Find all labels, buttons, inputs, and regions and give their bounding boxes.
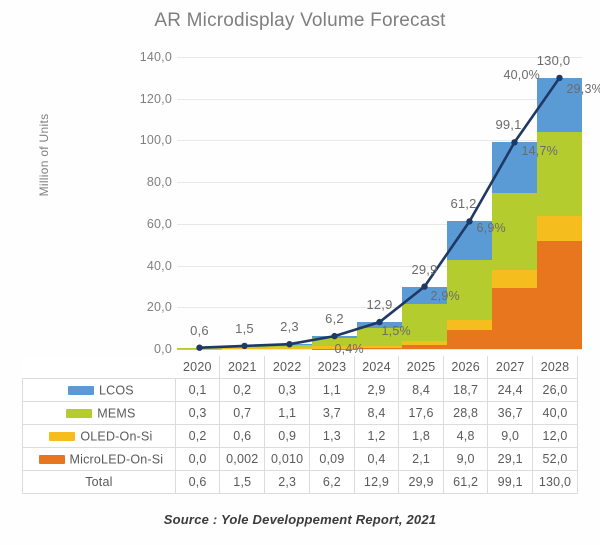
data-table: 202020212022202320242025202620272028 LCO… bbox=[22, 356, 578, 494]
y-axis-ticks: 140,0120,0100,080,060,040,020,00,0 bbox=[118, 0, 172, 360]
source-note: Source : Yole Developpement Report, 2021 bbox=[0, 512, 600, 527]
table-cell: 36,7 bbox=[488, 402, 533, 425]
table-total-label: Total bbox=[23, 471, 176, 494]
bar-stack bbox=[177, 348, 222, 349]
table-column-header: 2028 bbox=[533, 356, 578, 379]
table-cell: 0,0 bbox=[175, 448, 220, 471]
table-total-cell: 29,9 bbox=[399, 471, 444, 494]
table-cell: 0,1 bbox=[175, 379, 220, 402]
table-cell: 9,0 bbox=[488, 425, 533, 448]
table-cell: 0,2 bbox=[220, 379, 265, 402]
legend-label: LCOS bbox=[99, 383, 134, 397]
growth-percent-label: 6,9% bbox=[477, 221, 506, 235]
table-total-cell: 99,1 bbox=[488, 471, 533, 494]
table-cell: 1,2 bbox=[354, 425, 399, 448]
table-row: LCOS0,10,20,31,12,98,418,724,426,0 bbox=[23, 379, 578, 402]
total-value-label: 61,2 bbox=[450, 196, 476, 211]
legend-swatch-icon bbox=[66, 409, 92, 418]
total-value-label: 1,5 bbox=[235, 321, 254, 336]
bar-segment-oled-on-si[interactable] bbox=[222, 348, 267, 349]
legend-row-oled-on-si: OLED-On-Si bbox=[23, 425, 176, 448]
table-column-header: 2021 bbox=[220, 356, 265, 379]
legend-swatch-icon bbox=[49, 432, 75, 441]
total-value-label: 2,3 bbox=[280, 319, 299, 334]
legend-label: OLED-On-Si bbox=[80, 429, 152, 443]
table-cell: 3,7 bbox=[310, 402, 355, 425]
table-cell: 28,8 bbox=[443, 402, 488, 425]
table-column-header: 2023 bbox=[310, 356, 355, 379]
table-total-cell: 6,2 bbox=[310, 471, 355, 494]
table-cell: 0,7 bbox=[220, 402, 265, 425]
table-cell: 8,4 bbox=[354, 402, 399, 425]
table-cell: 0,6 bbox=[220, 425, 265, 448]
y-tick-label: 20,0 bbox=[118, 300, 172, 314]
total-value-label: 0,6 bbox=[190, 323, 209, 338]
table-cell: 0,09 bbox=[310, 448, 355, 471]
table-cell: 0,010 bbox=[265, 448, 310, 471]
y-tick-label: 0,0 bbox=[118, 342, 172, 356]
bar-segment-microled-on-si[interactable] bbox=[402, 345, 447, 349]
table-total-cell: 0,6 bbox=[175, 471, 220, 494]
legend-swatch-icon bbox=[39, 455, 65, 464]
table-cell: 2,9 bbox=[354, 379, 399, 402]
top-percent-label: 40,0% bbox=[504, 68, 540, 82]
table-cell: 40,0 bbox=[533, 402, 578, 425]
legend-label: MEMS bbox=[97, 406, 135, 420]
table-cell: 0,9 bbox=[265, 425, 310, 448]
total-value-label: 99,1 bbox=[495, 117, 521, 132]
table-total-cell: 61,2 bbox=[443, 471, 488, 494]
growth-percent-label: 29,3% bbox=[567, 82, 600, 96]
growth-percent-label: 1,5% bbox=[382, 324, 411, 338]
y-tick-label: 40,0 bbox=[118, 259, 172, 273]
bar-stack bbox=[447, 221, 492, 349]
total-value-label: 6,2 bbox=[325, 311, 344, 326]
table-cell: 0,4 bbox=[354, 448, 399, 471]
table-total-cell: 2,3 bbox=[265, 471, 310, 494]
table-column-header: 2024 bbox=[354, 356, 399, 379]
table-cell: 24,4 bbox=[488, 379, 533, 402]
table-header-row: 202020212022202320242025202620272028 bbox=[23, 356, 578, 379]
table-total-cell: 130,0 bbox=[533, 471, 578, 494]
bar-stack bbox=[222, 346, 267, 349]
table-total-cell: 12,9 bbox=[354, 471, 399, 494]
table-cell: 17,6 bbox=[399, 402, 444, 425]
table-column-header: 2025 bbox=[399, 356, 444, 379]
table-cell: 4,8 bbox=[443, 425, 488, 448]
table-corner-cell bbox=[23, 356, 176, 379]
table-total-row: Total0,61,52,36,212,929,961,299,1130,0 bbox=[23, 471, 578, 494]
table-cell: 8,4 bbox=[399, 379, 444, 402]
bar-stack bbox=[492, 142, 537, 349]
y-tick-label: 120,0 bbox=[118, 92, 172, 106]
table-header: 202020212022202320242025202620272028 bbox=[23, 356, 578, 379]
table-column-header: 2026 bbox=[443, 356, 488, 379]
table-cell: 1,3 bbox=[310, 425, 355, 448]
total-value-label: 29,9 bbox=[411, 262, 437, 277]
y-tick-label: 140,0 bbox=[118, 50, 172, 64]
table-cell: 18,7 bbox=[443, 379, 488, 402]
table-cell: 29,1 bbox=[488, 448, 533, 471]
legend-row-lcos: LCOS bbox=[23, 379, 176, 402]
legend-row-mems: MEMS bbox=[23, 402, 176, 425]
bar-segment-microled-on-si[interactable] bbox=[492, 288, 537, 349]
bar-segment-microled-on-si[interactable] bbox=[537, 241, 582, 349]
growth-percent-label: 2,9% bbox=[431, 289, 460, 303]
bar-segment-microled-on-si[interactable] bbox=[447, 330, 492, 349]
table-cell: 12,0 bbox=[533, 425, 578, 448]
growth-percent-label: 0,4% bbox=[335, 342, 364, 356]
table-column-header: 2020 bbox=[175, 356, 220, 379]
plot-area: Million of Units 140,0120,0100,080,060,0… bbox=[0, 0, 600, 360]
y-tick-label: 60,0 bbox=[118, 217, 172, 231]
table-cell: 1,1 bbox=[310, 379, 355, 402]
table-cell: 0,2 bbox=[175, 425, 220, 448]
y-axis-title: Million of Units bbox=[37, 75, 51, 235]
bar-segment-oled-on-si[interactable] bbox=[492, 270, 537, 289]
table-cell: 0,002 bbox=[220, 448, 265, 471]
table-cell: 9,0 bbox=[443, 448, 488, 471]
table-body: LCOS0,10,20,31,12,98,418,724,426,0MEMS0,… bbox=[23, 379, 578, 494]
table-row: OLED-On-Si0,20,60,91,31,21,84,89,012,0 bbox=[23, 425, 578, 448]
table-cell: 1,1 bbox=[265, 402, 310, 425]
bar-stack bbox=[537, 78, 582, 349]
bar-segment-oled-on-si[interactable] bbox=[537, 216, 582, 241]
total-value-label: 12,9 bbox=[366, 297, 392, 312]
table-cell: 1,8 bbox=[399, 425, 444, 448]
table-cell: 52,0 bbox=[533, 448, 578, 471]
table-column-header: 2027 bbox=[488, 356, 533, 379]
legend-row-microled-on-si: MicroLED-On-Si bbox=[23, 448, 176, 471]
chart-figure: AR Microdisplay Volume Forecast Million … bbox=[0, 0, 600, 545]
table-cell: 2,1 bbox=[399, 448, 444, 471]
table-total-cell: 1,5 bbox=[220, 471, 265, 494]
y-tick-label: 80,0 bbox=[118, 175, 172, 189]
bar-stack bbox=[267, 344, 312, 349]
table-row: MEMS0,30,71,13,78,417,628,836,740,0 bbox=[23, 402, 578, 425]
bar-segment-oled-on-si[interactable] bbox=[447, 320, 492, 330]
legend-swatch-icon bbox=[68, 386, 94, 395]
table-cell: 0,3 bbox=[175, 402, 220, 425]
table-cell: 0,3 bbox=[265, 379, 310, 402]
table-column-header: 2022 bbox=[265, 356, 310, 379]
y-tick-label: 100,0 bbox=[118, 133, 172, 147]
table-row: MicroLED-On-Si0,00,0020,0100,090,42,19,0… bbox=[23, 448, 578, 471]
total-value-label: 130,0 bbox=[537, 53, 571, 68]
table-cell: 26,0 bbox=[533, 379, 578, 402]
legend-label: MicroLED-On-Si bbox=[70, 452, 164, 466]
growth-percent-label: 14,7% bbox=[522, 144, 558, 158]
